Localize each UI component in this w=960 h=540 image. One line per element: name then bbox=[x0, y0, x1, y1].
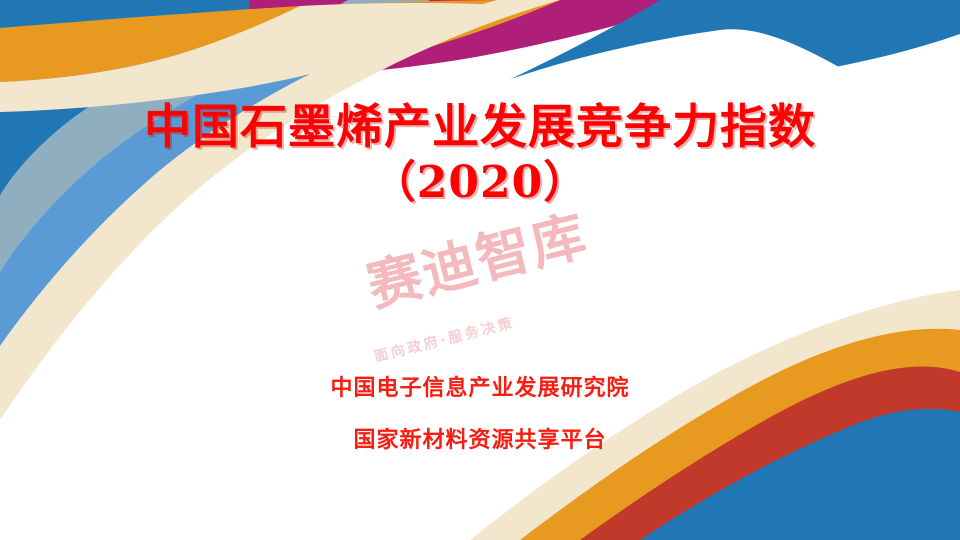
top-orange-band-right bbox=[190, 0, 560, 84]
organization-block: 中国电子信息产业发展研究院 国家新材料资源共享平台 bbox=[0, 378, 960, 452]
page-title: 中国石墨烯产业发展竞争力指数 bbox=[0, 100, 960, 155]
watermark: 赛迪智库 面向政府·服务决策 bbox=[350, 243, 610, 368]
top-magenta-band bbox=[238, 0, 700, 76]
left-cream-sweep bbox=[0, 0, 560, 420]
top-orange-band bbox=[0, 6, 300, 82]
decorative-ribbon-artwork bbox=[0, 0, 960, 540]
page-title-year: （2020） bbox=[0, 157, 960, 209]
title-block: 中国石墨烯产业发展竞争力指数 （2020） bbox=[0, 100, 960, 209]
cover-slide: 赛迪智库 面向政府·服务决策 中国石墨烯产业发展竞争力指数 （2020） 中国电… bbox=[0, 0, 960, 540]
organization-line-1: 中国电子信息产业发展研究院 bbox=[0, 378, 960, 400]
watermark-tagline: 面向政府·服务决策 bbox=[372, 312, 517, 366]
top-right-blue-band bbox=[430, 0, 960, 87]
organization-line-2: 国家新材料资源共享平台 bbox=[0, 430, 960, 452]
watermark-main-text: 赛迪智库 bbox=[358, 191, 594, 322]
top-cream-band bbox=[0, 3, 520, 112]
